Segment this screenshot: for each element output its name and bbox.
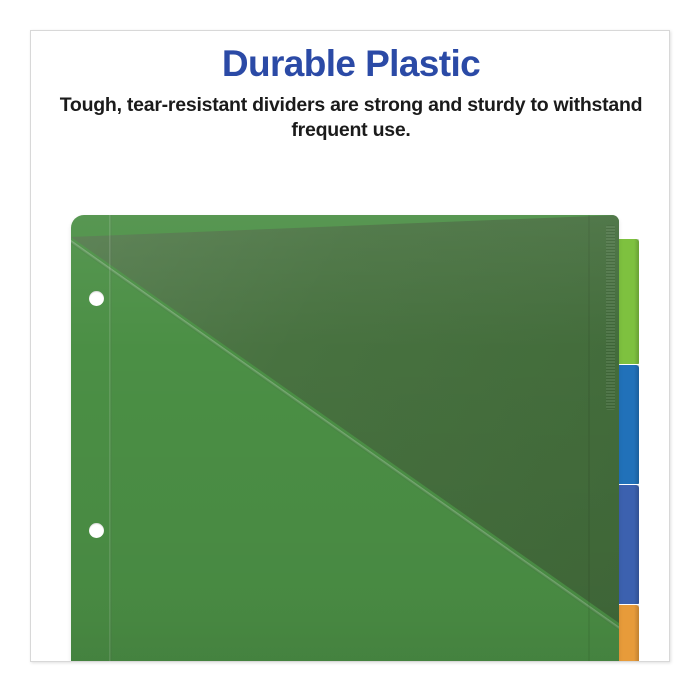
top-punch-hole	[89, 291, 104, 306]
product-image-canvas: Durable Plastic Tough, tear-resistant di…	[0, 0, 700, 700]
tab-shadow-edge	[634, 485, 639, 604]
tab-shadow-edge	[634, 605, 639, 662]
header-block: Durable Plastic Tough, tear-resistant di…	[31, 45, 670, 144]
product-card-frame: Durable Plastic Tough, tear-resistant di…	[30, 30, 670, 662]
product-photo	[31, 179, 670, 662]
page-title: Durable Plastic	[31, 45, 670, 84]
sheet-shading	[71, 215, 619, 662]
tab-shadow-edge	[634, 239, 639, 364]
page-subtitle: Tough, tear-resistant dividers are stron…	[31, 93, 670, 144]
bottom-punch-hole	[89, 523, 104, 538]
tab-shadow-edge	[634, 365, 639, 484]
plastic-divider-sheet	[71, 215, 619, 662]
